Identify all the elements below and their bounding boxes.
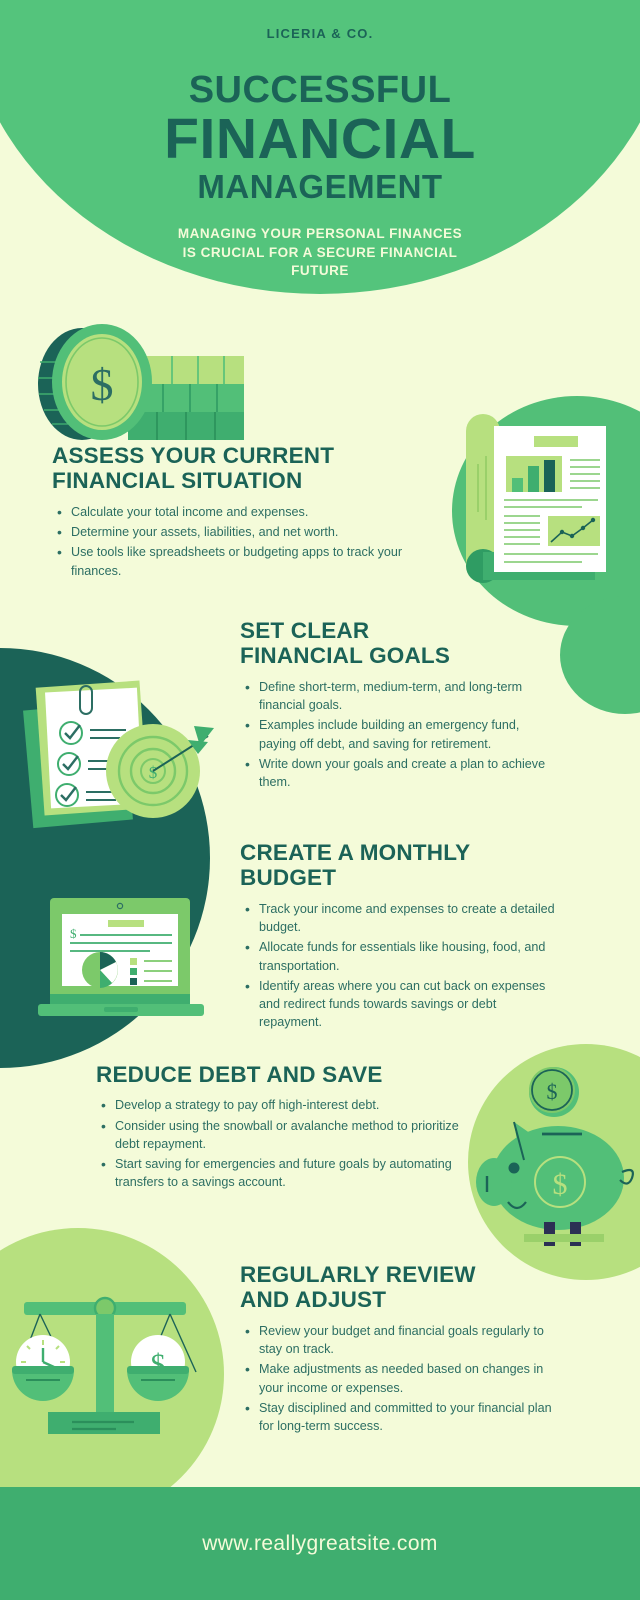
section-title-line2: FINANCIAL SITUATION — [52, 468, 302, 493]
financial-report-scroll-icon — [452, 404, 627, 599]
section-title: REDUCE DEBT AND SAVE — [96, 1062, 466, 1087]
bullet-list: Track your income and expenses to create… — [240, 900, 560, 1032]
section-title-line1: CREATE A MONTHLY — [240, 840, 470, 865]
section-create-a-monthly-budget: CREATE A MONTHLY BUDGET Track your incom… — [240, 840, 560, 1034]
list-item: Develop a strategy to pay off high-inter… — [115, 1096, 466, 1114]
section-title-line2: FINANCIAL GOALS — [240, 643, 450, 668]
list-item: Examples include building an emergency f… — [259, 716, 560, 753]
svg-text:$: $ — [91, 359, 114, 410]
bullet-list: Define short-term, medium-term, and long… — [240, 678, 560, 792]
bullet-list: Review your budget and financial goals r… — [240, 1322, 560, 1436]
list-item: Review your budget and financial goals r… — [259, 1322, 560, 1359]
list-item: Allocate funds for essentials like housi… — [259, 938, 560, 975]
checklist-clipboard-with-target-icon: $ — [22, 668, 222, 853]
list-item: Use tools like spreadsheets or budgeting… — [71, 543, 452, 580]
section-title: SET CLEAR FINANCIAL GOALS — [240, 618, 560, 669]
list-item: Track your income and expenses to create… — [259, 900, 560, 937]
page-title-line2: FINANCIAL — [0, 111, 640, 168]
section-assess-your-current-financial-situation: ASSESS YOUR CURRENT FINANCIAL SITUATION … — [52, 443, 452, 582]
list-item: Make adjustments as needed based on chan… — [259, 1360, 560, 1397]
list-item: Consider using the snowball or avalanche… — [115, 1117, 466, 1154]
balance-scale-time-vs-money-icon: $ — [10, 1266, 200, 1451]
page-subtitle: MANAGING YOUR PERSONAL FINANCES IS CRUCI… — [170, 225, 470, 281]
list-item: Start saving for emergencies and future … — [115, 1155, 466, 1192]
section-title-line1: SET CLEAR — [240, 618, 369, 643]
brand-name: LICERIA & CO. — [0, 26, 640, 41]
page-title-line1: SUCCESSFUL — [0, 71, 640, 109]
laptop-with-budget-dashboard-icon: $ — [34, 890, 214, 1030]
website-url[interactable]: www.reallygreatsite.com — [202, 1532, 438, 1556]
header: LICERIA & CO. SUCCESSFUL FINANCIAL MANAG… — [0, 0, 640, 281]
section-title: CREATE A MONTHLY BUDGET — [240, 840, 560, 891]
section-title-line2: AND ADJUST — [240, 1287, 386, 1312]
footer: www.reallygreatsite.com — [0, 1487, 640, 1600]
section-title-line1: REGULARLY REVIEW — [240, 1262, 476, 1287]
bullet-list: Calculate your total income and expenses… — [52, 503, 452, 580]
piggy-bank-with-coin-icon: $ $ — [476, 1050, 640, 1255]
section-title-line1: REDUCE DEBT AND SAVE — [96, 1062, 383, 1087]
list-item: Determine your assets, liabilities, and … — [71, 523, 452, 541]
list-item: Stay disciplined and committed to your f… — [259, 1399, 560, 1436]
svg-text:$: $ — [149, 763, 158, 782]
list-item: Calculate your total income and expenses… — [71, 503, 452, 521]
svg-text:$: $ — [547, 1079, 558, 1104]
infographic-page: LICERIA & CO. SUCCESSFUL FINANCIAL MANAG… — [0, 0, 640, 1600]
list-item: Define short-term, medium-term, and long… — [259, 678, 560, 715]
section-title: ASSESS YOUR CURRENT FINANCIAL SITUATION — [52, 443, 452, 494]
list-item: Write down your goals and create a plan … — [259, 755, 560, 792]
dollar-coin-and-cash-stack-icon: $ — [24, 322, 244, 447]
bullet-list: Develop a strategy to pay off high-inter… — [96, 1096, 466, 1191]
svg-text:$: $ — [553, 1168, 568, 1201]
section-title: REGULARLY REVIEW AND ADJUST — [240, 1262, 560, 1313]
section-reduce-debt-and-save: REDUCE DEBT AND SAVE Develop a strategy … — [96, 1062, 466, 1194]
page-title-line3: MANAGEMENT — [0, 170, 640, 203]
section-title-line2: BUDGET — [240, 865, 336, 890]
svg-text:$: $ — [70, 926, 77, 941]
section-regularly-review-and-adjust: REGULARLY REVIEW AND ADJUST Review your … — [240, 1262, 560, 1437]
section-set-clear-financial-goals: SET CLEAR FINANCIAL GOALS Define short-t… — [240, 618, 560, 793]
list-item: Identify areas where you can cut back on… — [259, 977, 560, 1032]
